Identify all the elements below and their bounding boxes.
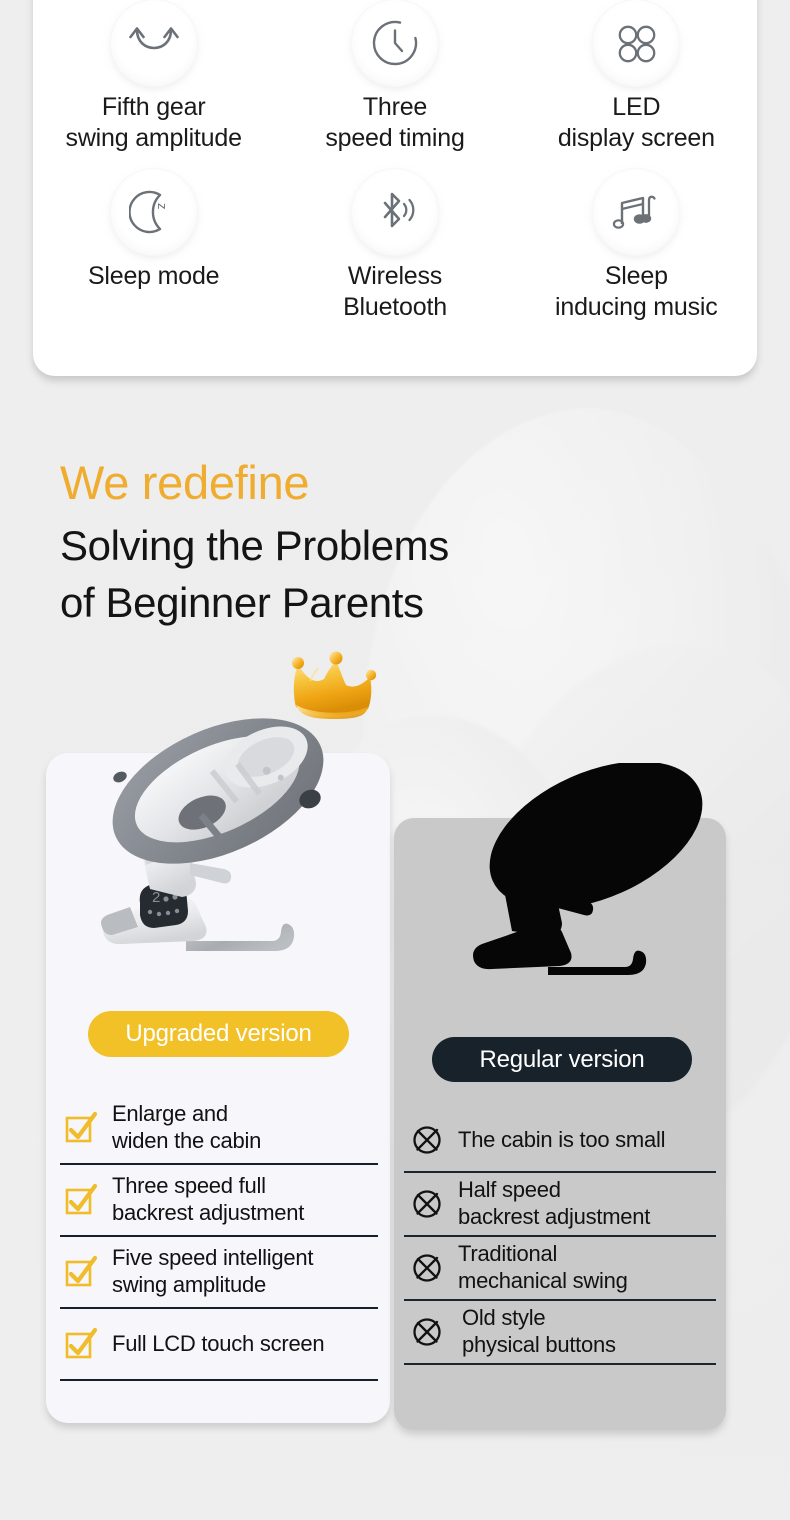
list-item-label: Half speed backrest adjustment <box>458 1177 650 1231</box>
clock-timer-icon <box>352 0 438 86</box>
feature-label: Fifth gear swing amplitude <box>66 92 242 153</box>
feature-item-sleep-mode: z Sleep mode <box>33 169 274 322</box>
list-item: The cabin is too small <box>400 1109 720 1171</box>
baby-swing-chair-photo: 2 <box>78 713 398 988</box>
feature-label: Three speed timing <box>325 92 464 153</box>
list-item: Half speed backrest adjustment <box>400 1173 720 1235</box>
feature-grid: Fifth gear swing amplitude Three speed t… <box>33 0 757 322</box>
feature-item-speed-timing: Three speed timing <box>274 0 515 153</box>
list-item-label: Traditional mechanical swing <box>458 1241 628 1295</box>
badge-regular-version: Regular version <box>432 1037 692 1082</box>
list-item-label: Old style physical buttons <box>458 1305 616 1359</box>
check-square-icon <box>64 1327 98 1361</box>
check-square-icon <box>64 1255 98 1289</box>
list-item: Traditional mechanical swing <box>400 1237 720 1299</box>
list-item-label: Full LCD touch screen <box>112 1331 324 1358</box>
upgraded-feature-list: Enlarge and widen the cabin Three speed … <box>54 1093 384 1381</box>
headline-main-text: Solving the Problems of Beginner Parents <box>60 518 620 631</box>
list-item: Three speed full backrest adjustment <box>54 1165 384 1235</box>
headline-accent-text: We redefine <box>60 455 620 510</box>
product-detail-page: Fifth gear swing amplitude Three speed t… <box>0 0 790 1520</box>
x-circle-icon <box>410 1123 444 1157</box>
list-item-label: Three speed full backrest adjustment <box>112 1173 304 1227</box>
feature-item-sleep-music: Sleep inducing music <box>516 169 757 322</box>
comparison-card-regular: Regular version The cabin is too small <box>394 818 726 1430</box>
baby-swing-chair-silhouette <box>456 763 736 1013</box>
svg-text:z: z <box>155 203 170 210</box>
feature-item-swing-amplitude: Fifth gear swing amplitude <box>33 0 274 153</box>
regular-feature-list: The cabin is too small Half speed backre… <box>400 1109 720 1365</box>
list-item: Enlarge and widen the cabin <box>54 1093 384 1163</box>
comparison-card-upgraded: 2 <box>46 753 390 1423</box>
x-circle-icon <box>410 1315 444 1349</box>
feature-label: Sleep inducing music <box>555 261 718 322</box>
feature-label: Sleep mode <box>88 261 219 292</box>
gold-crown-icon <box>280 645 388 723</box>
check-square-icon <box>64 1183 98 1217</box>
list-item: Five speed intelligent swing amplitude <box>54 1237 384 1307</box>
moon-sleep-icon: z <box>111 169 197 255</box>
divider <box>60 1379 378 1381</box>
feature-item-bluetooth: Wireless Bluetooth <box>274 169 515 322</box>
music-note-icon <box>593 169 679 255</box>
feature-label: LED display screen <box>558 92 715 153</box>
x-circle-icon <box>410 1251 444 1285</box>
x-circle-icon <box>410 1187 444 1221</box>
list-item-label: Five speed intelligent swing amplitude <box>112 1245 313 1299</box>
swing-amplitude-icon <box>111 0 197 86</box>
bluetooth-icon <box>352 169 438 255</box>
list-item-label: Enlarge and widen the cabin <box>112 1101 261 1155</box>
divider <box>404 1363 716 1365</box>
list-item-label: The cabin is too small <box>458 1127 665 1154</box>
feature-label: Wireless Bluetooth <box>343 261 447 322</box>
check-square-icon <box>64 1111 98 1145</box>
svg-text:2: 2 <box>152 889 160 906</box>
led-grid-icon <box>593 0 679 86</box>
feature-item-led-display: LED display screen <box>516 0 757 153</box>
list-item: Full LCD touch screen <box>54 1309 384 1379</box>
list-item: Old style physical buttons <box>400 1301 720 1363</box>
headline-block: We redefine Solving the Problems of Begi… <box>60 455 620 631</box>
badge-upgraded-version: Upgraded version <box>88 1011 349 1057</box>
feature-highlights-card: Fifth gear swing amplitude Three speed t… <box>33 0 757 376</box>
